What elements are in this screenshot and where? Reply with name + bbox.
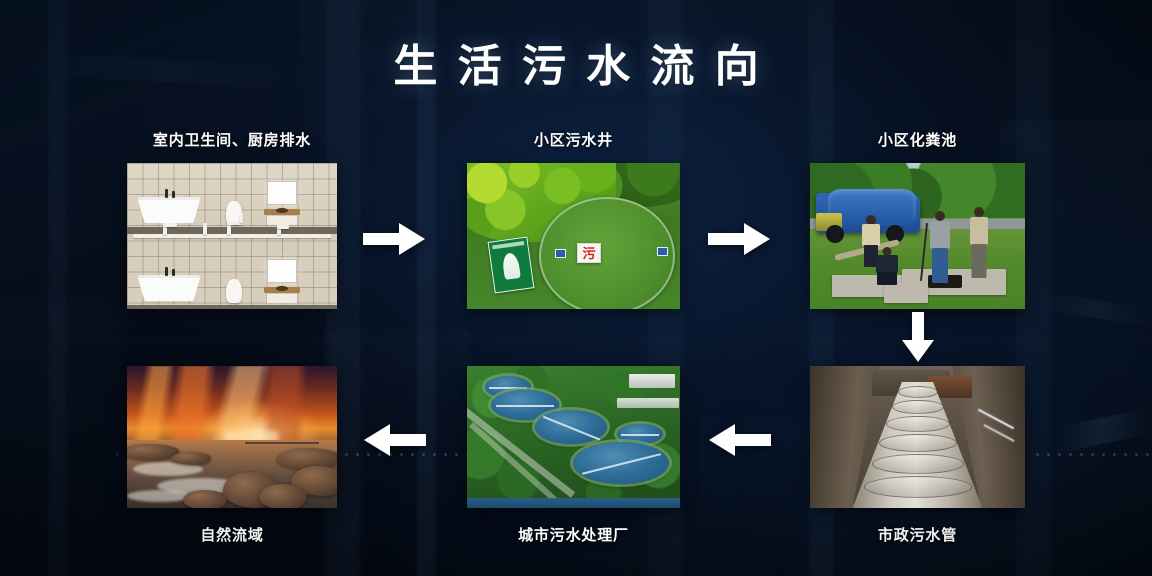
photo-natural-watershed <box>127 366 337 508</box>
flow-node-caption: 市政污水管 <box>878 524 957 545</box>
flow-node-caption: 自然流域 <box>200 524 263 545</box>
slide-stage: 生活污水流向 室内卫生间、厨房排水 <box>0 0 1152 576</box>
flow-arrow-right-1 <box>363 222 425 256</box>
flow-node-community-sewage-well[interactable]: 小区污水井 污 <box>467 163 680 309</box>
flow-node-municipal-sewage-pipe[interactable]: 市政污水管 <box>810 366 1025 508</box>
photo-municipal-sewage-pipe <box>810 366 1025 508</box>
photo-community-sewage-well: 污 <box>467 163 680 309</box>
flow-node-natural-watershed[interactable]: 自然流域 <box>127 366 337 508</box>
page-title: 生活污水流向 <box>0 44 1152 90</box>
flow-node-caption: 城市污水处理厂 <box>518 524 629 545</box>
worker-figure <box>874 247 900 285</box>
flow-arrow-right-2 <box>708 222 770 256</box>
flow-node-caption: 小区化粪池 <box>878 129 957 150</box>
sign-sewage-pipe-well <box>488 236 535 293</box>
flow-node-indoor-drainage[interactable]: 室内卫生间、厨房排水 <box>127 163 337 309</box>
flow-arrow-down-3 <box>901 312 935 362</box>
sign-wu: 污 <box>577 243 601 263</box>
flow-arrow-left-5 <box>364 423 426 457</box>
photo-urban-sewage-plant <box>467 366 680 508</box>
flow-arrow-left-4 <box>709 423 771 457</box>
worker-figure <box>968 207 990 279</box>
flow-node-caption: 小区污水井 <box>534 129 613 150</box>
flow-node-caption: 室内卫生间、厨房排水 <box>153 129 311 150</box>
worker-figure <box>928 211 952 283</box>
flow-node-community-septic-tank[interactable]: 小区化粪池 <box>810 163 1025 309</box>
flow-node-urban-sewage-plant[interactable]: 城市污水处理厂 <box>467 366 680 508</box>
photo-community-septic-tank <box>810 163 1025 309</box>
photo-indoor-drainage <box>127 163 337 309</box>
